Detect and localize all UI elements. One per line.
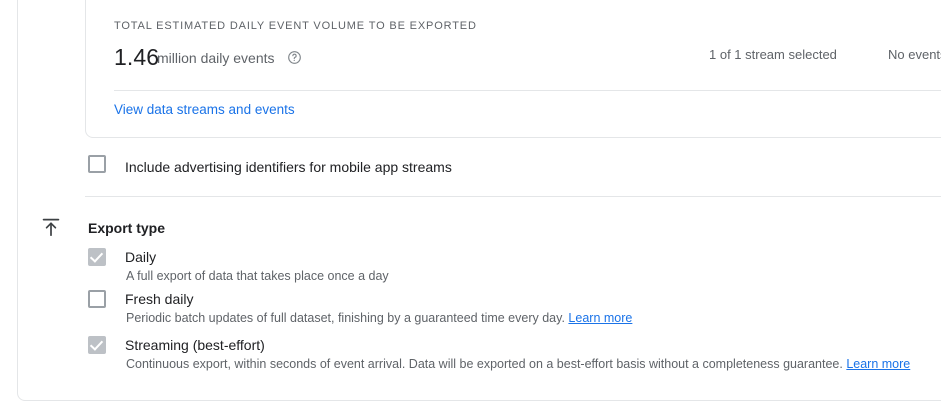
export-option-fresh-daily-description: Periodic batch updates of full dataset, … <box>126 309 632 327</box>
advertising-identifiers-label: Include advertising identifiers for mobi… <box>125 157 452 177</box>
export-option-fresh-daily-title: Fresh daily <box>125 290 193 309</box>
advertising-identifiers-checkbox[interactable] <box>88 155 106 173</box>
export-option-fresh-daily-checkbox[interactable] <box>88 290 106 308</box>
export-option-daily-checkbox <box>88 248 106 266</box>
events-excluded-status: No events excluded <box>888 47 941 62</box>
event-volume-number: 1.46 <box>114 43 159 71</box>
event-volume-label: TOTAL ESTIMATED DAILY EVENT VOLUME TO BE… <box>114 20 477 32</box>
event-volume-summary-card: TOTAL ESTIMATED DAILY EVENT VOLUME TO BE… <box>85 0 941 138</box>
export-option-streaming-learn-more-link[interactable]: Learn more <box>846 357 910 371</box>
export-option-daily-description: A full export of data that takes place o… <box>126 267 389 285</box>
event-volume-units: million daily events <box>157 47 275 69</box>
export-type-heading: Export type <box>88 218 165 238</box>
export-upload-icon <box>39 215 63 239</box>
export-option-daily-title: Daily <box>125 248 156 267</box>
export-option-fresh-daily-description-text: Periodic batch updates of full dataset, … <box>126 311 565 325</box>
view-data-streams-and-events-link[interactable]: View data streams and events <box>114 102 295 117</box>
export-option-streaming-description-text: Continuous export, within seconds of eve… <box>126 357 843 371</box>
stats-card-divider <box>114 90 941 91</box>
export-option-streaming-description: Continuous export, within seconds of eve… <box>126 355 910 373</box>
export-option-fresh-daily-learn-more-link[interactable]: Learn more <box>568 311 632 325</box>
section-divider <box>85 196 941 197</box>
export-option-streaming-checkbox <box>88 336 106 354</box>
export-option-daily-description-text: A full export of data that takes place o… <box>126 269 389 283</box>
streams-selected-status: 1 of 1 stream selected <box>709 47 837 62</box>
help-circle-icon[interactable] <box>287 50 302 65</box>
export-option-streaming-title: Streaming (best-effort) <box>125 336 265 355</box>
